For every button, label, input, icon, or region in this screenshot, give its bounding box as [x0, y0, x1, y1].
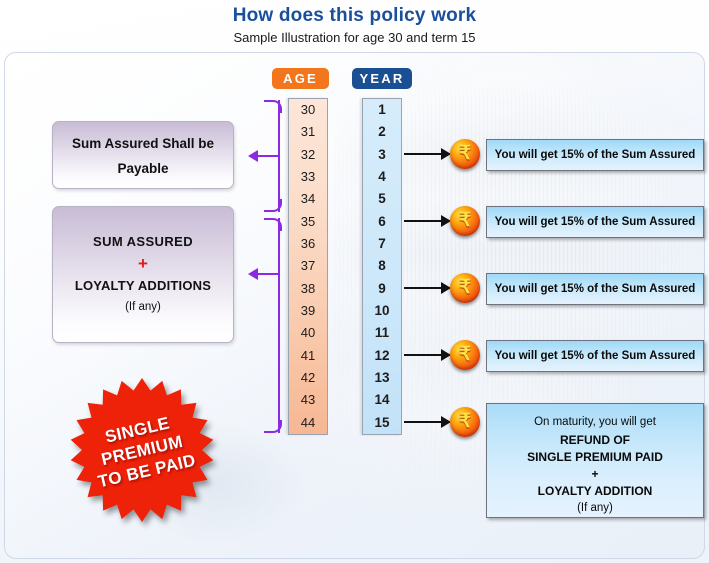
year-cell-2: 2: [363, 121, 401, 143]
age-cell-44: 44: [289, 412, 327, 434]
box-sum-assured-plus-loyalty: SUM ASSURED + LOYALTY ADDITIONS (If any): [52, 206, 234, 343]
rupee-coin-icon: ₹: [450, 139, 480, 169]
age-column: 303132333435363738394041424344: [288, 98, 328, 435]
rupee-coin-icon: ₹: [450, 206, 480, 236]
year-column: 123456789101112131415: [362, 98, 402, 435]
year-cell-5: 5: [363, 188, 401, 210]
arrow-to-benefit-year-12: [404, 354, 442, 356]
maturity-line-1: On maturity, you will get: [487, 416, 703, 428]
age-cell-30: 30: [289, 99, 327, 121]
loyalty-if-any: (If any): [53, 301, 233, 313]
page-header: How does this policy work Sample Illustr…: [0, 0, 709, 50]
year-column-header: YEAR: [352, 68, 412, 89]
benefit-box-year-3: You will get 15% of the Sum Assured: [486, 139, 704, 171]
benefit-box-year-12: You will get 15% of the Sum Assured: [486, 340, 704, 372]
arrow-to-benefit-year-3: [404, 153, 442, 155]
bracket-ages-30-34: [248, 100, 290, 212]
rupee-coin-icon: ₹: [450, 273, 480, 303]
age-cell-43: 43: [289, 389, 327, 411]
rupee-coin-icon: ₹: [450, 340, 480, 370]
arrow-to-benefit-year-9: [404, 287, 442, 289]
year-cell-6: 6: [363, 211, 401, 233]
benefit-box-year-9: You will get 15% of the Sum Assured: [486, 273, 704, 305]
maturity-line-2: REFUND OF: [487, 433, 703, 447]
bracket-ages-35-44: [248, 218, 290, 433]
rupee-coin-icon: ₹: [450, 407, 480, 437]
age-cell-35: 35: [289, 211, 327, 233]
age-cell-34: 34: [289, 188, 327, 210]
age-cell-41: 41: [289, 345, 327, 367]
box-maturity-benefit: On maturity, you will get REFUND OF SING…: [486, 403, 704, 518]
age-cell-31: 31: [289, 121, 327, 143]
year-cell-1: 1: [363, 99, 401, 121]
age-cell-33: 33: [289, 166, 327, 188]
age-cell-32: 32: [289, 144, 327, 166]
maturity-line-3: SINGLE PREMIUM PAID: [487, 450, 703, 464]
year-cell-3: 3: [363, 144, 401, 166]
year-cell-14: 14: [363, 389, 401, 411]
age-cell-42: 42: [289, 367, 327, 389]
sum-assured-line-2: Payable: [53, 161, 233, 176]
page-subtitle: Sample Illustration for age 30 and term …: [0, 30, 709, 46]
maturity-if-any: (If any): [487, 502, 703, 514]
year-cell-9: 9: [363, 278, 401, 300]
year-cell-12: 12: [363, 345, 401, 367]
year-cell-11: 11: [363, 322, 401, 344]
maturity-line-5: LOYALTY ADDITION: [487, 484, 703, 498]
age-cell-38: 38: [289, 278, 327, 300]
benefit-box-year-6: You will get 15% of the Sum Assured: [486, 206, 704, 238]
sum-assured-line-1: Sum Assured Shall be: [53, 136, 233, 151]
maturity-plus-sign-icon: +: [487, 467, 703, 481]
box-sum-assured-payable: Sum Assured Shall be Payable: [52, 121, 234, 189]
page-title: How does this policy work: [0, 5, 709, 27]
year-cell-8: 8: [363, 255, 401, 277]
age-cell-40: 40: [289, 322, 327, 344]
year-cell-4: 4: [363, 166, 401, 188]
age-column-header: AGE: [272, 68, 329, 89]
arrow-to-maturity-year-15: [404, 421, 442, 423]
age-cell-36: 36: [289, 233, 327, 255]
year-cell-13: 13: [363, 367, 401, 389]
age-cell-37: 37: [289, 255, 327, 277]
single-premium-badge: SINGLE PREMIUM TO BE PAID: [67, 377, 217, 523]
year-cell-15: 15: [363, 412, 401, 434]
plus-sign-icon: +: [53, 255, 233, 272]
year-cell-7: 7: [363, 233, 401, 255]
arrow-to-benefit-year-6: [404, 220, 442, 222]
loyalty-line-1: SUM ASSURED: [53, 234, 233, 249]
year-cell-10: 10: [363, 300, 401, 322]
age-cell-39: 39: [289, 300, 327, 322]
loyalty-line-2: LOYALTY ADDITIONS: [53, 278, 233, 293]
